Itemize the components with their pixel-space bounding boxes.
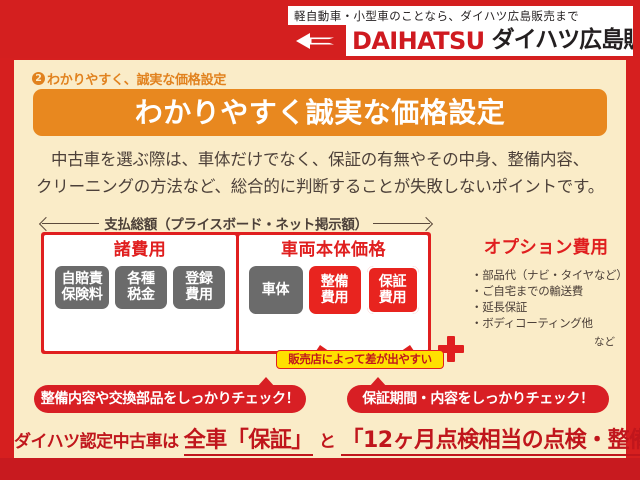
section-label: 2 わかりやすく、誠実な価格設定	[32, 69, 226, 88]
arrow-left-icon	[42, 223, 99, 224]
section-banner: わかりやすく誠実な価格設定	[33, 89, 607, 136]
section-label-text: わかりやすく、誠実な価格設定	[47, 69, 226, 88]
dealer-variance-callout: 販売店によって差が出やすい	[276, 350, 444, 369]
card-title: 諸費用	[114, 242, 167, 259]
price-card-misc-fees: 諸費用 自賠責 保険料 各種 税金 登録 費用	[44, 235, 236, 351]
daihatsu-d-chevron-icon	[288, 25, 346, 56]
chip-maintenance-cost: 整備 費用	[309, 266, 361, 314]
chip-line-1: 車体	[249, 282, 303, 298]
price-card-vehicle-price: 車両本体価格 車体 整備 費用 保証 費用	[239, 235, 428, 351]
arrow-right-icon	[373, 223, 430, 224]
chip-line-2: 税金	[115, 287, 167, 303]
chip-line-1: 各種	[115, 271, 167, 287]
chip-vehicle-body: 車体	[249, 266, 303, 314]
chip-taxes: 各種 税金	[115, 266, 167, 309]
option-costs-list: ・部品代（ナビ・タイヤなど） ・ご自宅までの輸送費 ・延長保証 ・ボディコーティ…	[471, 267, 621, 331]
footer-bar	[0, 458, 640, 480]
chip-row: 車体 整備 費用 保証 費用	[249, 266, 419, 314]
chip-warranty-cost: 保証 費用	[367, 266, 419, 314]
chip-line-1: 自賠責	[55, 271, 109, 287]
chip-line-2: 保険料	[55, 287, 109, 303]
brand-wordmark: DAIHATSU	[352, 29, 485, 53]
bottom-part-1: ダイハツ認定中古車は	[14, 432, 179, 452]
dealer-name-jp: ダイハツ広島販売	[492, 29, 633, 52]
header-bar: 軽自動車・小型車のことなら、ダイハツ広島販売まで DAIHATSU ダイハツ広島…	[0, 0, 640, 58]
check-pill-warranty-text: 保証期間・内容をしっかりチェック！	[362, 392, 593, 406]
chip-line-1: 登録	[173, 271, 225, 287]
list-item: ・ボディコーティング他	[471, 315, 621, 331]
bottom-part-3: と	[318, 432, 337, 452]
list-item: ・ご自宅までの輸送費	[471, 283, 621, 299]
chip-line-2: 費用	[367, 290, 419, 306]
chip-compulsory-insurance: 自賠責 保険料	[55, 266, 109, 309]
infographic-page: 軽自動車・小型車のことなら、ダイハツ広島販売まで DAIHATSU ダイハツ広島…	[0, 0, 640, 480]
check-pill-warranty: 保証期間・内容をしっかりチェック！	[347, 385, 609, 413]
chip-registration-fee: 登録 費用	[173, 266, 225, 309]
content-panel: 2 わかりやすく、誠実な価格設定 わかりやすく誠実な価格設定 中古車を選ぶ際は、…	[14, 60, 626, 458]
chip-line-2: 費用	[309, 290, 361, 306]
bottom-part-4: 「12ヶ月点検相当の点検・整備」	[341, 428, 640, 456]
list-item: ・部品代（ナビ・タイヤなど）	[471, 267, 621, 283]
check-pill-maintenance: 整備内容や交換部品をしっかりチェック！	[34, 385, 306, 413]
card-title: 車両本体価格	[281, 242, 386, 259]
logo-row: DAIHATSU ダイハツ広島販売	[288, 25, 633, 56]
option-costs-title: オプション費用	[471, 240, 621, 258]
chip-line-1: 保証	[367, 274, 419, 290]
bottom-headline: ダイハツ認定中古車は 全車「保証」 と 「12ヶ月点検相当の点検・整備」 付き	[14, 422, 626, 454]
chip-line-1: 整備	[309, 274, 361, 290]
list-item: ・延長保証	[471, 299, 621, 315]
chip-row: 自賠責 保険料 各種 税金 登録 費用	[55, 266, 225, 309]
dealer-logo-box: 軽自動車・小型車のことなら、ダイハツ広島販売まで DAIHATSU ダイハツ広島…	[288, 6, 633, 56]
option-costs-etc: など	[471, 334, 621, 349]
section-number-badge: 2	[32, 72, 45, 85]
section-banner-text: わかりやすく誠実な価格設定	[135, 99, 506, 127]
price-structure-frame: 諸費用 自賠責 保険料 各種 税金 登録 費用	[41, 232, 431, 354]
total-payment-label: 支払総額（プライスボード・ネット掲示額）	[99, 213, 373, 233]
chip-line-2: 費用	[173, 287, 225, 303]
option-costs-block: オプション費用 ・部品代（ナビ・タイヤなど） ・ご自宅までの輸送費 ・延長保証 …	[471, 240, 621, 349]
bottom-part-2: 全車「保証」	[184, 428, 313, 456]
lead-paragraph: 中古車を選ぶ際は、車体だけでなく、保証の有無やその中身、整備内容、 クリーニング…	[14, 146, 626, 200]
lead-line-2: クリーニングの方法など、総合的に判断することが失敗しないポイントです。	[14, 173, 626, 200]
total-payment-arrow: 支払総額（プライスボード・ネット掲示額）	[42, 213, 430, 233]
check-pill-maintenance-text: 整備内容や交換部品をしっかりチェック！	[41, 392, 299, 406]
lead-line-1: 中古車を選ぶ際は、車体だけでなく、保証の有無やその中身、整備内容、	[14, 146, 626, 173]
header-tagline: 軽自動車・小型車のことなら、ダイハツ広島販売まで	[288, 6, 579, 24]
dealer-variance-callout-text: 販売店によって差が出やすい	[288, 354, 431, 366]
